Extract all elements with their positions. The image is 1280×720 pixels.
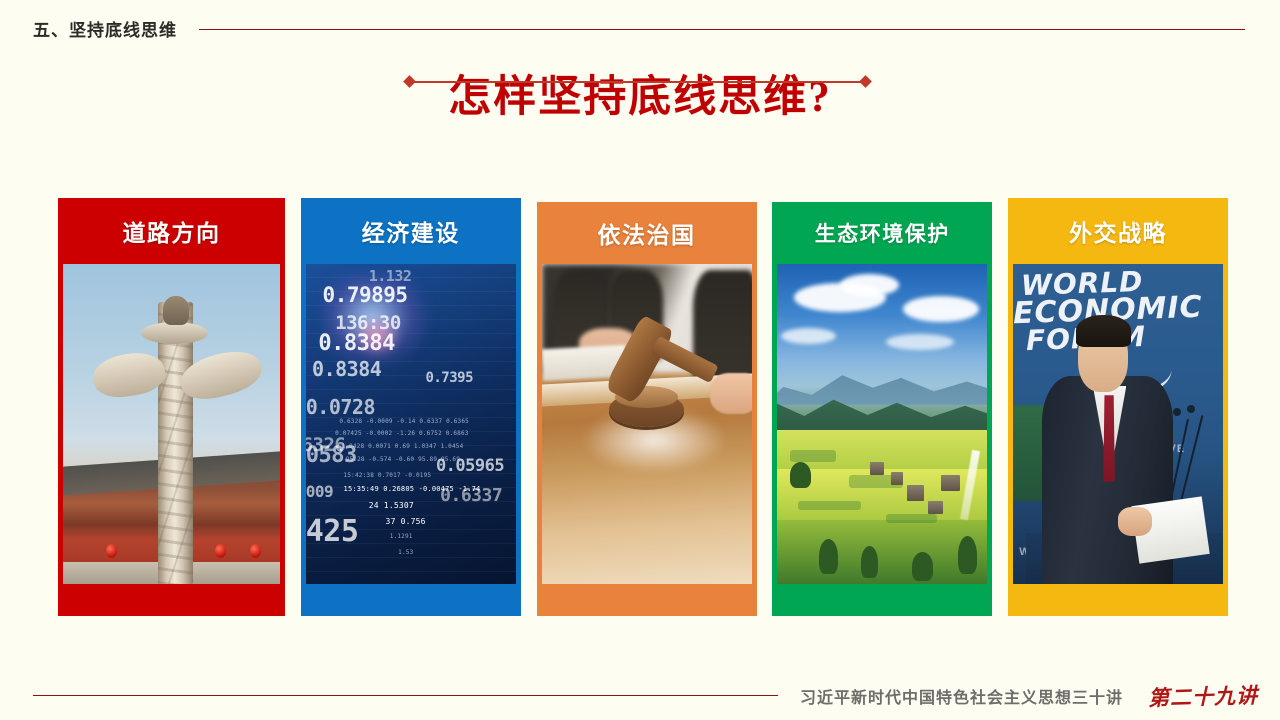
card-photo-valley-landscape: [772, 264, 992, 584]
card-title: 依法治国: [598, 216, 696, 250]
microphone-head-icon: [1187, 405, 1195, 413]
title-divider: [405, 77, 870, 86]
data-number: 009: [306, 482, 333, 501]
data-number: 0.8384: [312, 357, 381, 381]
series-title: 习近平新时代中国特色社会主义思想三十讲: [800, 684, 1123, 708]
data-row: 0.07425 -0.0002 -1.26 0.6752 0.6863: [335, 430, 468, 437]
card-photo-financial-data: 1.132 0.79895 136:30 0.8384 0.8384 0.739…: [301, 264, 521, 584]
village-house: [907, 485, 924, 501]
village-house: [891, 472, 904, 485]
cloud-icon: [903, 296, 979, 322]
card-title: 道路方向: [123, 214, 221, 248]
data-number: 0.0728: [306, 395, 375, 419]
slide-footer: 习近平新时代中国特色社会主义思想三十讲 第二十九讲: [0, 664, 1280, 720]
card-header: 道路方向: [58, 198, 285, 264]
data-row: 0.6328 -0.0009 -0.14 0.6337 0.6365: [339, 418, 469, 425]
lecture-number: 第二十九讲: [1148, 680, 1259, 713]
card-ecological-protection[interactable]: 生态环境保护: [772, 198, 992, 616]
card-header: 生态环境保护: [772, 202, 992, 264]
header-divider-line: [199, 29, 1245, 30]
data-row: 1.0428 0.0071 0.69 1.0347 1.0454: [341, 443, 463, 450]
card-photo-gavel: [537, 264, 757, 584]
data-row: 1.1291: [390, 533, 413, 540]
distant-mountains: [772, 360, 992, 405]
card-rule-of-law[interactable]: 依法治国: [537, 198, 757, 616]
card-road-direction[interactable]: 道路方向: [58, 198, 285, 616]
data-number: 0.8384: [318, 331, 394, 356]
card-title: 经济建设: [362, 214, 460, 248]
field-patch: [798, 501, 861, 511]
data-row: 1.53: [398, 549, 413, 556]
card-header: 依法治国: [537, 202, 757, 264]
slide-header: 五、坚持底线思维: [0, 0, 1280, 56]
speaker-hand: [1118, 507, 1152, 536]
cloud-icon: [781, 328, 836, 344]
field-patch: [886, 514, 936, 524]
footer-divider-line: [33, 695, 778, 696]
card-title: 外交战略: [1069, 214, 1167, 248]
tree-icon: [912, 552, 933, 581]
village-house: [870, 462, 885, 475]
village-house: [928, 501, 943, 514]
card-footer-bar: [58, 584, 285, 616]
card-footer-bar: [537, 584, 757, 616]
cloud-wing-left: [91, 348, 168, 400]
data-row: 95.28 -0.574 -0.60 95.89 95.69: [346, 456, 460, 463]
card-strip: 道路方向 经济建设 1.132 0.79895 13: [58, 198, 1228, 616]
tree-icon: [861, 546, 878, 578]
card-diplomatic-strategy[interactable]: 外交战略 WORLD ECONOMIC FORUM IN TO TO RE SI…: [1008, 198, 1228, 616]
data-row: 15:35:49 0.26805 -0.00475 -1.74: [344, 485, 481, 493]
card-header: 经济建设: [301, 198, 521, 264]
card-photo-huabiao-column: [58, 264, 285, 584]
diamond-marker-right-icon: [859, 75, 872, 88]
data-number: 425: [306, 514, 359, 549]
card-title: 生态环境保护: [815, 218, 950, 248]
data-row: 24 1.5307: [369, 501, 414, 510]
speaker-hair: [1076, 315, 1131, 347]
data-number: 0.79895: [323, 283, 408, 307]
stone-beast: [163, 296, 189, 325]
speaker-tie: [1103, 395, 1115, 481]
village-house: [941, 475, 960, 491]
tree-icon: [958, 536, 977, 574]
divider-bar: [410, 81, 865, 83]
card-header: 外交战略: [1008, 198, 1228, 264]
judge-hand: [710, 373, 756, 415]
card-photo-forum-speech: WORLD ECONOMIC FORUM IN TO TO RE SIVE RL…: [1008, 264, 1228, 584]
microphone-head-icon: [1173, 408, 1181, 416]
tree-icon: [819, 539, 838, 574]
field-patch: [790, 450, 836, 463]
rapeseed-field: [777, 520, 987, 584]
cloud-icon: [886, 334, 953, 350]
data-row: 37 0.756: [386, 517, 426, 526]
data-number: 0.7395: [425, 370, 473, 386]
section-label: 五、坚持底线思维: [33, 16, 177, 41]
card-footer-bar: [301, 584, 521, 616]
card-footer-bar: [772, 584, 992, 616]
huabiao-column: [158, 302, 193, 584]
tree-icon: [790, 462, 811, 488]
red-lantern-icon: [250, 544, 261, 558]
card-economic-construction[interactable]: 经济建设 1.132 0.79895 136:30 0.8384 0.8384 …: [301, 198, 521, 616]
column-disc: [141, 322, 208, 344]
card-footer-bar: [1008, 584, 1228, 616]
data-row: 15:42:38 0.7017 -0.0195: [344, 472, 432, 479]
cloud-icon: [840, 274, 899, 296]
